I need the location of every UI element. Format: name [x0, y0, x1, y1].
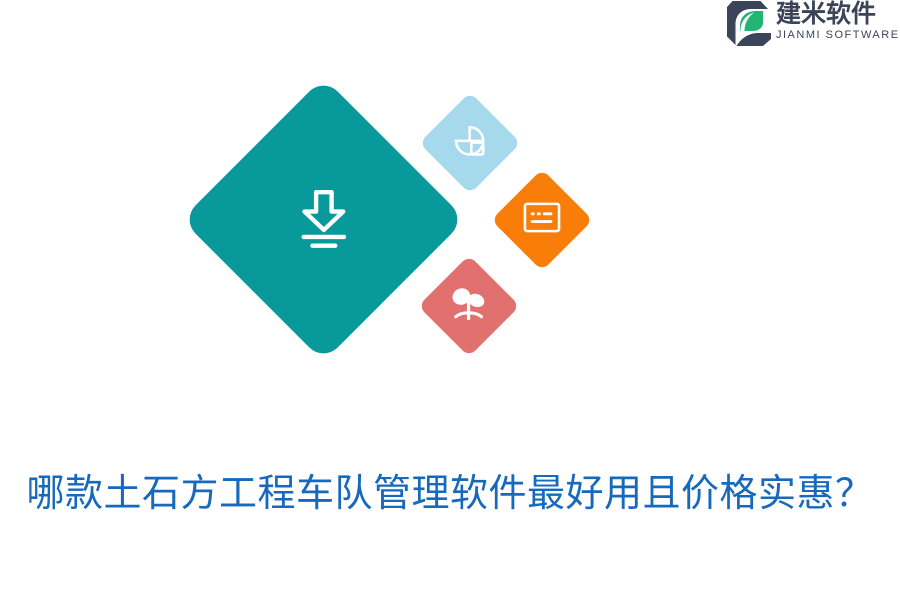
- hero-illustration: [150, 60, 610, 380]
- tile-download: [181, 77, 465, 361]
- brand-logo[interactable]: 建米软件 JIANMI SOFTWARE: [720, 0, 900, 50]
- id-card-icon: [523, 202, 561, 238]
- brand-name: 建米软件: [776, 1, 876, 28]
- page-title: 哪款土石方工程车队管理软件最好用且价格实惠？: [0, 462, 900, 526]
- tile-sprout: [418, 255, 520, 357]
- page-root: 建米软件 JIANMI SOFTWARE: [0, 0, 900, 600]
- jianmi-leaf-logo-icon: [720, 0, 772, 46]
- brand-text-block: 建米软件 JIANMI SOFTWARE: [776, 0, 900, 42]
- tile-id-card: [491, 169, 593, 271]
- tile-pie-chart: [419, 92, 521, 194]
- sprout-icon: [450, 286, 488, 327]
- pie-chart-icon: [453, 124, 487, 163]
- download-icon: [293, 186, 355, 253]
- brand-subtitle: JIANMI SOFTWARE: [776, 28, 900, 42]
